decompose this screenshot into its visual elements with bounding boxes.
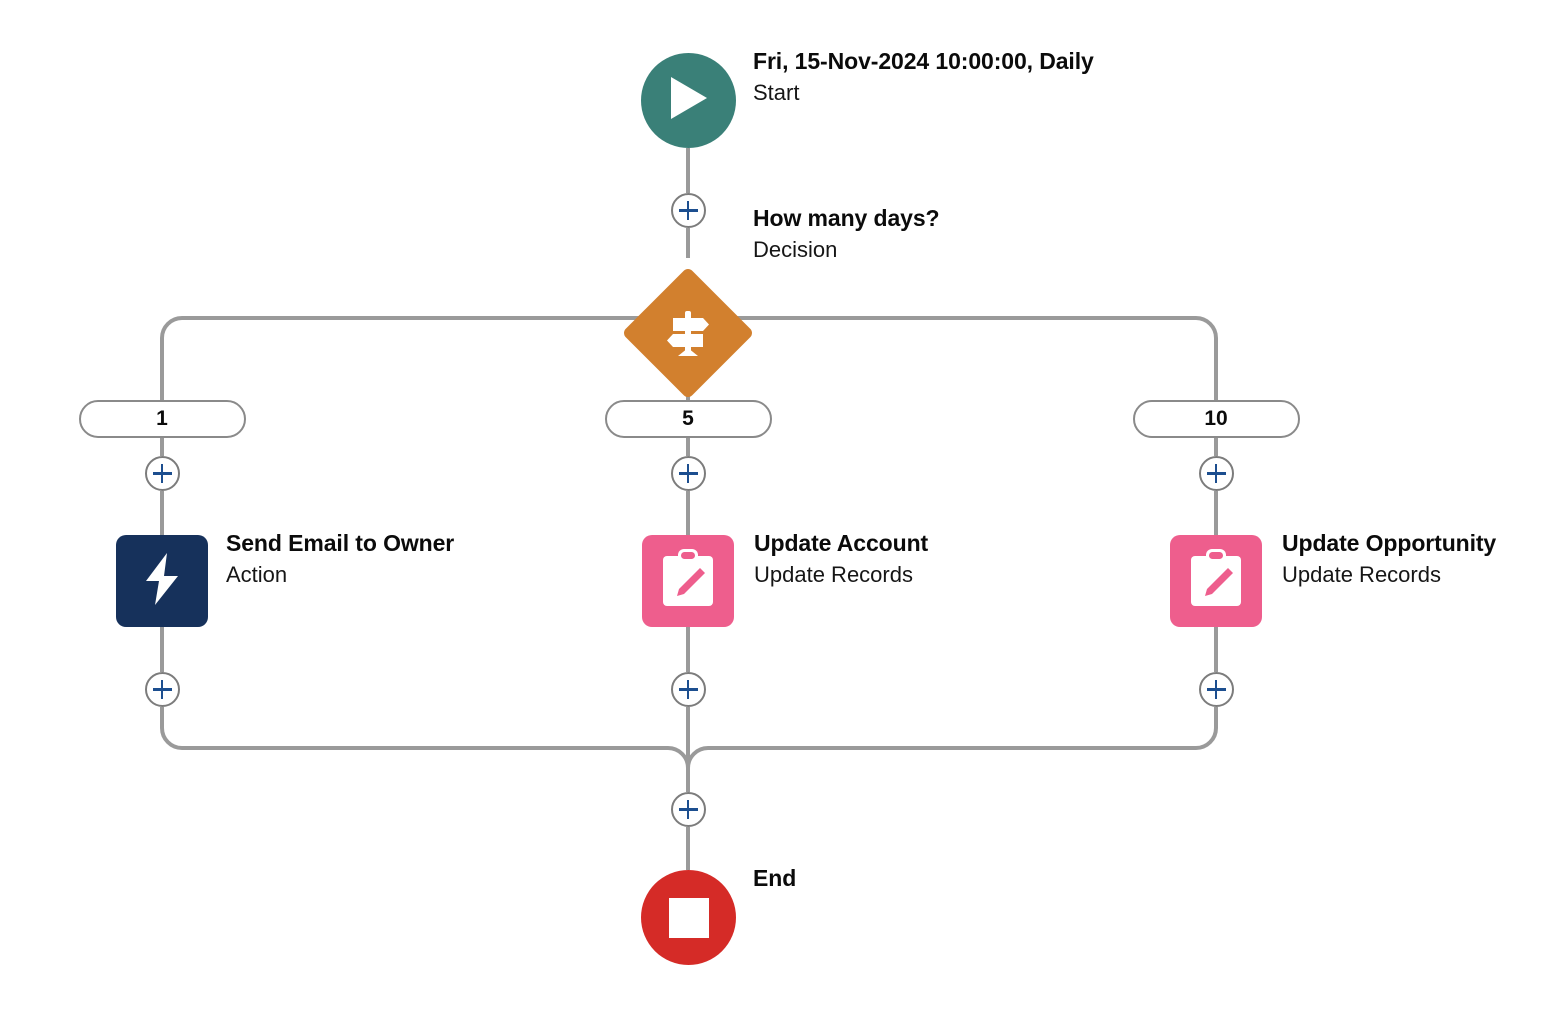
add-element-button-after-start[interactable] [671, 193, 706, 228]
play-icon [667, 74, 711, 127]
plus-icon-vertical-bar [1215, 464, 1218, 483]
plus-icon-vertical-bar [161, 680, 164, 699]
add-element-button-branch-2-bottom[interactable] [671, 672, 706, 707]
branch-label-1-text: 1 [156, 407, 168, 431]
plus-icon-vertical-bar [687, 800, 690, 819]
start-node[interactable] [641, 53, 736, 148]
plus-icon-vertical-bar [1215, 680, 1218, 699]
decision-node-subtitle: Decision [753, 234, 940, 265]
update-account-node-subtitle: Update Records [754, 559, 928, 590]
clipboard-pencil-icon [1187, 548, 1245, 615]
add-element-button-branch-2-top[interactable] [671, 456, 706, 491]
add-element-button-branch-3-top[interactable] [1199, 456, 1234, 491]
branch-label-1[interactable]: 1 [79, 400, 246, 438]
start-node-title: Fri, 15-Nov-2024 10:00:00, Daily [753, 46, 1123, 77]
plus-icon-vertical-bar [687, 201, 690, 220]
end-node-label: End [753, 863, 796, 894]
end-node[interactable] [641, 870, 736, 965]
flow-canvas: Fri, 15-Nov-2024 10:00:00, Daily Start H… [0, 0, 1564, 1034]
end-node-title: End [753, 863, 796, 894]
stop-square-icon [669, 898, 709, 938]
action-node-label: Send Email to Owner Action [226, 528, 454, 590]
update-opportunity-node-title: Update Opportunity [1282, 528, 1496, 559]
decision-node[interactable] [641, 286, 735, 380]
add-element-button-branch-1-bottom[interactable] [145, 672, 180, 707]
plus-icon-vertical-bar [687, 464, 690, 483]
start-node-subtitle: Start [753, 77, 1123, 108]
branch-label-3-text: 10 [1204, 407, 1227, 431]
action-node-subtitle: Action [226, 559, 454, 590]
action-node-title: Send Email to Owner [226, 528, 454, 559]
update-account-node[interactable] [642, 535, 734, 627]
decision-node-label: How many days? Decision [753, 203, 940, 265]
update-opportunity-node[interactable] [1170, 535, 1262, 627]
update-opportunity-node-label: Update Opportunity Update Records [1282, 528, 1496, 590]
branch-label-3[interactable]: 10 [1133, 400, 1300, 438]
action-node[interactable] [116, 535, 208, 627]
plus-icon-vertical-bar [161, 464, 164, 483]
add-element-button-branch-1-top[interactable] [145, 456, 180, 491]
add-element-button-branch-3-bottom[interactable] [1199, 672, 1234, 707]
update-opportunity-node-subtitle: Update Records [1282, 559, 1496, 590]
branch-label-2[interactable]: 5 [605, 400, 772, 438]
clipboard-pencil-icon [659, 548, 717, 615]
decision-node-title: How many days? [753, 203, 940, 234]
branch-label-2-text: 5 [682, 407, 694, 431]
update-account-node-label: Update Account Update Records [754, 528, 928, 590]
plus-icon-vertical-bar [687, 680, 690, 699]
add-element-button-before-end[interactable] [671, 792, 706, 827]
start-node-label: Fri, 15-Nov-2024 10:00:00, Daily Start [753, 46, 1123, 108]
signpost-icon [660, 305, 716, 361]
lightning-bolt-icon [140, 551, 184, 612]
update-account-node-title: Update Account [754, 528, 928, 559]
